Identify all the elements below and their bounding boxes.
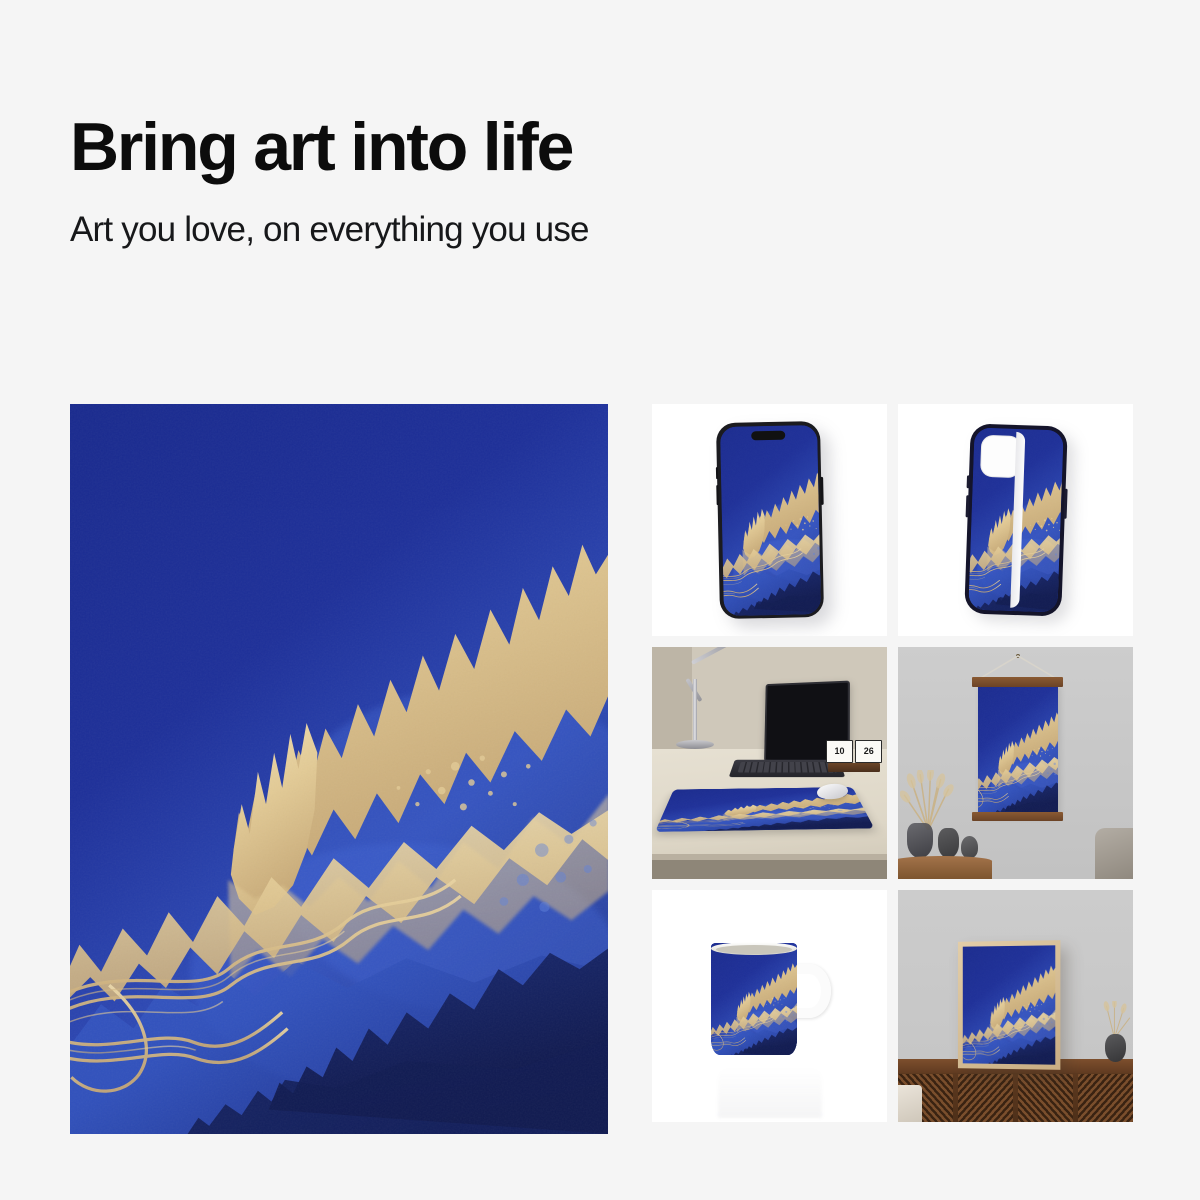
calendar-cards: 10 26 xyxy=(826,740,882,763)
sideboard-door-4 xyxy=(1078,1074,1133,1122)
mug-interior xyxy=(716,945,792,954)
phone-volume-up-button xyxy=(715,467,718,479)
product-tile-phone-case[interactable] xyxy=(898,404,1133,636)
art-products-page: Bring art into life Art you love, on eve… xyxy=(0,0,1200,1200)
ceramic-vase-6 xyxy=(1105,1034,1126,1062)
calendar-stand xyxy=(828,763,880,772)
framed-print-product xyxy=(958,940,1061,1069)
wall-hanging-assembly xyxy=(978,677,1058,821)
product-tile-desk-mat[interactable]: 10 26 xyxy=(652,647,887,879)
mug-reflection xyxy=(718,1066,822,1118)
case-power-button xyxy=(1063,489,1067,519)
page-header: Bring art into life Art you love, on eve… xyxy=(70,112,1070,249)
calendar-day-value: 26 xyxy=(855,740,882,763)
lamp-stem xyxy=(693,679,697,744)
product-tile-wall-hanging[interactable] xyxy=(898,647,1133,879)
armchair xyxy=(898,1085,922,1122)
framed-print-artwork xyxy=(963,945,1056,1064)
hanging-rail-bottom xyxy=(972,812,1063,821)
walnut-sideboard xyxy=(898,1059,1133,1122)
hero-artwork-image xyxy=(70,404,608,1134)
phone-power-button xyxy=(820,477,823,505)
page-subtitle: Art you love, on everything you use xyxy=(70,211,1070,250)
mug-assembly xyxy=(711,943,829,1055)
sideboard-doors xyxy=(898,1074,1132,1122)
hanging-rail-top xyxy=(972,677,1063,686)
wall-hanging-artwork xyxy=(978,683,1058,815)
flip-calendar: 10 26 xyxy=(826,740,882,772)
case-volume-down-button xyxy=(965,495,969,517)
pampas-grass-plant-6 xyxy=(1098,1001,1131,1038)
product-tile-phone-wallpaper[interactable] xyxy=(652,404,887,636)
round-side-table xyxy=(898,856,992,879)
page-title: Bring art into life xyxy=(70,112,1070,183)
sideboard-door-3 xyxy=(1018,1074,1073,1122)
sideboard-door-2 xyxy=(958,1074,1013,1122)
calendar-month-value: 10 xyxy=(826,740,853,763)
product-gallery: 10 26 xyxy=(70,404,1133,1134)
phone-screen xyxy=(719,425,820,616)
phone-volume-down-button xyxy=(715,485,718,505)
pampas-grass-plant xyxy=(900,770,956,830)
desk-underside xyxy=(652,860,887,879)
ceramic-vase-small xyxy=(961,836,977,858)
couch xyxy=(1095,828,1133,879)
desk-scene: 10 26 xyxy=(652,647,887,879)
product-tile-framed-print[interactable] xyxy=(898,890,1133,1122)
ceramic-vase-large xyxy=(938,828,959,858)
case-volume-up-button xyxy=(966,475,969,488)
mug-body xyxy=(711,943,797,1055)
hanging-cord xyxy=(978,654,1058,680)
phone-device xyxy=(715,421,823,619)
hero-artwork-tile[interactable] xyxy=(70,404,608,1134)
product-tile-mug[interactable] xyxy=(652,890,887,1122)
dynamic-island-icon xyxy=(751,430,785,440)
product-mockup-grid: 10 26 xyxy=(652,404,1133,1134)
glass-vase xyxy=(907,823,933,858)
lamp-base xyxy=(676,740,714,749)
laptop-keyboard xyxy=(737,762,837,773)
